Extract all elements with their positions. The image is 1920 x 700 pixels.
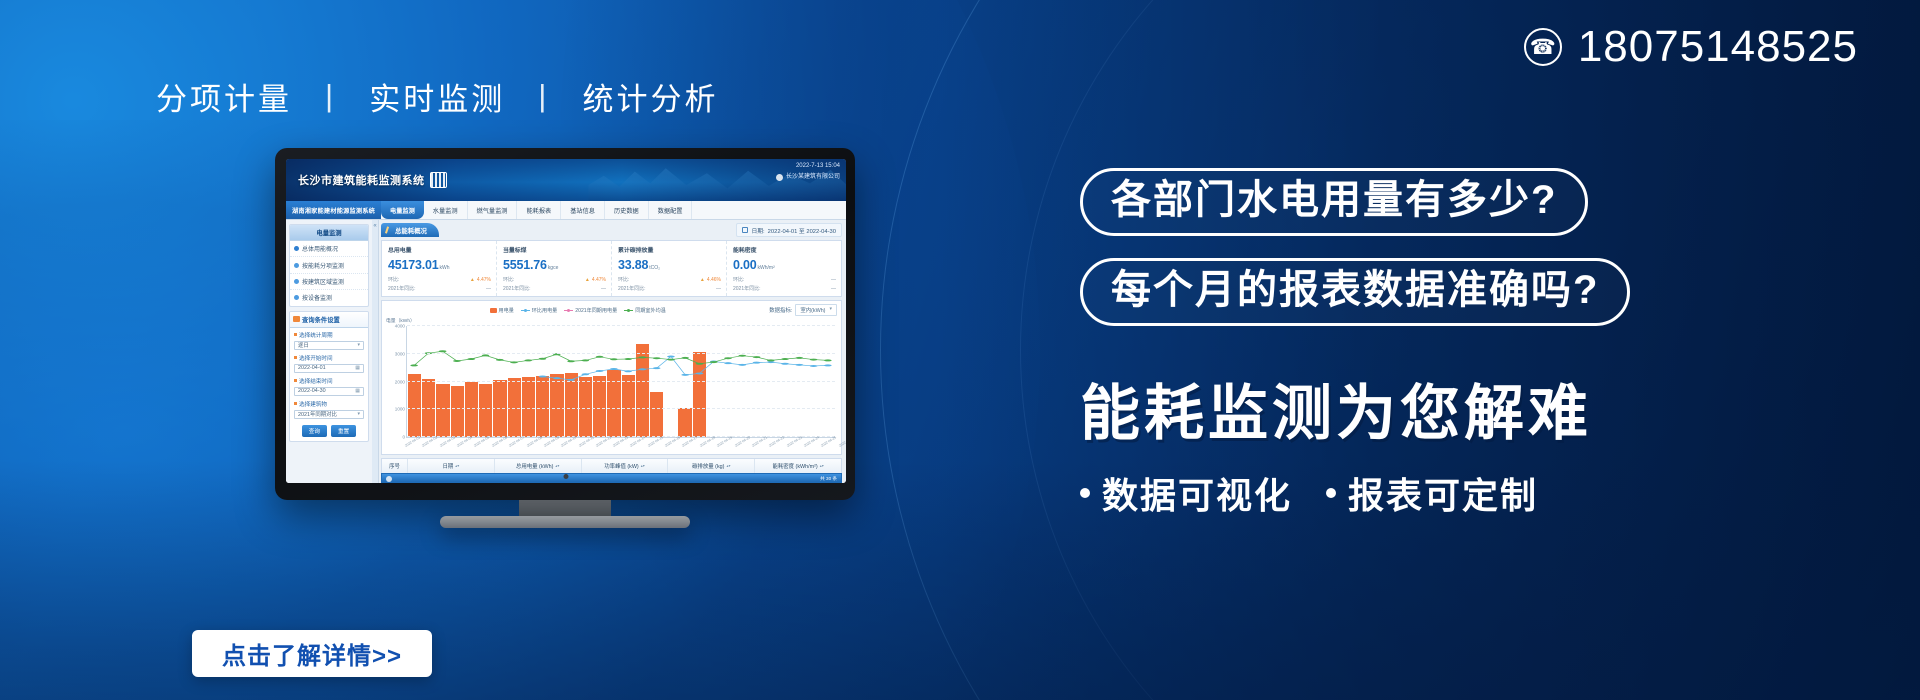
chart-y-tick: 0 — [402, 435, 405, 440]
app-header: 长沙市建筑能耗监测系统 2022-7-13 15:04 长沙某建筑有限公司 — [286, 159, 846, 201]
energy-chart-panel: 用电量环比用电量2021年同期用电量同期室外均温 数据指标: 室内(kWh) ▾ — [381, 300, 842, 455]
chart-point[interactable] — [810, 365, 818, 367]
chart-point[interactable] — [824, 364, 832, 366]
table-column-label: 功率峰值 (kW) — [604, 462, 638, 470]
legend-label: 用电量 — [499, 307, 514, 314]
chart-point[interactable] — [596, 370, 604, 372]
cta-button-label: 点击了解详情>> — [222, 636, 402, 671]
chart-point[interactable] — [767, 359, 775, 361]
app-logo-icon — [430, 172, 447, 188]
legend-label: 同期室外均温 — [635, 307, 666, 314]
kpi-change-value: 4.47% — [477, 277, 491, 283]
app-user[interactable]: 长沙某建筑有限公司 — [776, 173, 840, 182]
legend-label: 2021年同期用电量 — [575, 307, 617, 314]
table-column-header[interactable]: 日期▴▾ — [408, 459, 495, 473]
contact-phone[interactable]: ☎ 18075148525 — [1524, 22, 1858, 72]
feature-bullet-2: 报表可定制 — [1326, 467, 1538, 519]
app-main: 总能耗概况 日期: 2022-04-01 至 2022-04-30 — [379, 220, 846, 483]
field-period-value: 逐日 — [298, 341, 309, 349]
arrow-up-icon: ▲ — [470, 277, 475, 283]
phone-icon: ☎ — [1524, 28, 1562, 66]
arrow-up-icon: ▲ — [585, 277, 590, 283]
field-period-select[interactable]: 逐日 ▾ — [294, 341, 364, 350]
kpi-unit: kWh/m² — [758, 265, 775, 271]
table-column-label: 能耗密度 (kWh/m²) — [772, 462, 817, 470]
table-column-label: 日期 — [442, 462, 453, 470]
field-building-select[interactable]: 2021年同期对比 ▾ — [294, 410, 364, 419]
kpi-value-row: 33.88tCO₂ — [618, 256, 721, 274]
chart-point[interactable] — [610, 368, 618, 370]
nav-item-water[interactable]: 水量监测 — [424, 201, 468, 219]
sidebar-item-by-device[interactable]: 按设备监测 — [290, 290, 368, 305]
kpi-value-row: 45173.01kWh — [388, 256, 491, 274]
chart-point[interactable] — [510, 361, 518, 363]
chart-point[interactable] — [681, 374, 689, 376]
monitor-bezel: 长沙市建筑能耗监测系统 2022-7-13 15:04 长沙某建筑有限公司 — [275, 148, 855, 500]
field-end-date-input[interactable]: 2022-04-30 ▦ — [294, 387, 364, 396]
table-column-header[interactable]: 序号 — [382, 459, 408, 473]
tagline-part-1: 分项计量 — [156, 82, 292, 117]
chevron-down-icon: ▾ — [357, 411, 360, 417]
feature-bullet-1: 数据可视化 — [1080, 467, 1292, 519]
chart-point[interactable] — [610, 358, 618, 360]
chart-legend: 用电量环比用电量2021年同期用电量同期室外均温 — [386, 307, 769, 314]
legend-item-3[interactable]: 同期室外均温 — [624, 307, 666, 314]
kpi-yoy-value: — — [716, 286, 721, 292]
field-end-date: 选择结束时间 2022-04-30 ▦ — [290, 374, 368, 397]
date-range-label: 日期: — [751, 226, 764, 235]
chart-metric-label: 数据指标: — [769, 306, 792, 314]
chart-point[interactable] — [667, 359, 675, 361]
feature-bullets: 数据可视化 报表可定制 — [1080, 467, 1780, 519]
kpi-yoy-row: 2021年同比: — — [503, 285, 606, 292]
field-building-value: 2021年同期对比 — [298, 410, 337, 418]
cta-button[interactable]: 点击了解详情>> — [192, 630, 432, 677]
calendar-icon — [742, 227, 748, 233]
legend-item-2[interactable]: 2021年同期用电量 — [564, 307, 617, 314]
reset-button[interactable]: 重置 — [331, 425, 356, 437]
chart-point[interactable] — [824, 359, 832, 361]
chart-point[interactable] — [596, 356, 604, 358]
kpi-value-row: 0.00kWh/m² — [733, 256, 836, 274]
kpi-compare-label: 环比: — [733, 276, 744, 283]
chart-point[interactable] — [696, 372, 704, 374]
chart-point[interactable] — [539, 376, 547, 378]
nav-item-history[interactable]: 历史数据 — [605, 201, 649, 219]
bullet-icon — [294, 263, 299, 268]
chart-point[interactable] — [624, 370, 632, 372]
table-column-header[interactable]: 能耗密度 (kWh/m²)▴▾ — [755, 459, 841, 473]
bullet-icon — [294, 279, 299, 284]
tagline-part-3: 统计分析 — [583, 82, 719, 117]
kpi-compare-row: 环比: ▲4.47% — [503, 276, 606, 283]
app-header-meta: 2022-7-13 15:04 长沙某建筑有限公司 — [776, 162, 840, 182]
chart-point[interactable] — [696, 363, 704, 365]
chart-point[interactable] — [496, 359, 504, 361]
chart-point[interactable] — [581, 359, 589, 361]
legend-item-0[interactable]: 用电量 — [490, 307, 514, 314]
monitor-mockup: 长沙市建筑能耗监测系统 2022-7-13 15:04 长沙某建筑有限公司 — [275, 148, 855, 500]
bullet-icon — [1080, 488, 1090, 498]
panel-tab-overview[interactable]: 总能耗概况 — [381, 223, 439, 237]
kpi-change-value: 4.46% — [707, 277, 721, 283]
nav-brand-tab[interactable]: 湖南湘家能建材能源监测系统 — [286, 201, 381, 219]
app-user-name: 长沙某建筑有限公司 — [786, 173, 840, 182]
chart-point[interactable] — [724, 362, 732, 364]
kpi-compare-row: 环比: ▲4.46% — [618, 276, 721, 283]
chart-point[interactable] — [667, 356, 675, 358]
chart-point[interactable] — [581, 373, 589, 375]
chart-point[interactable] — [639, 368, 647, 370]
kpi-unit: kWh — [440, 265, 450, 271]
kpi-yoy-label: 2021年同比: — [733, 285, 761, 292]
kpi-change: ▲4.47% — [470, 277, 491, 283]
legend-swatch — [490, 308, 497, 313]
query-button[interactable]: 查询 — [302, 425, 327, 437]
chart-metric-box[interactable]: 室内(kWh) ▾ — [795, 304, 837, 316]
chart-point[interactable] — [795, 357, 803, 359]
chart-gridline: 2000 — [407, 381, 835, 382]
kpi-name: 能耗密度 — [733, 245, 836, 254]
chart-point[interactable] — [753, 356, 761, 358]
chart-point[interactable] — [539, 358, 547, 360]
kpi-yoy-row: 2021年同比: — — [618, 285, 721, 292]
date-range-value: 2022-04-01 至 2022-04-30 — [768, 226, 836, 235]
legend-swatch — [564, 310, 573, 311]
kpi-yoy-row: 2021年同比: — — [733, 285, 836, 292]
legend-swatch — [521, 310, 530, 311]
legend-swatch — [624, 310, 633, 311]
app-nav[interactable]: 湖南湘家能建材能源监测系统 电量监测 水量监测 燃气量监测 能耗报表 基站信息 … — [286, 201, 846, 220]
question-pill-2: 每个月的报表数据准确吗? — [1080, 258, 1630, 326]
sidebar-menu-card: 电量监测 总体用能概况 按能耗分项监测 — [289, 224, 369, 307]
chart-point[interactable] — [781, 358, 789, 360]
table-footer-bar: 共 30 条 — [381, 473, 842, 483]
kpi-value: 33.88 — [618, 258, 648, 272]
kpi-change: ▲4.47% — [585, 277, 606, 283]
table-column-header[interactable]: 总用电量 (kWh)▴▾ — [495, 459, 582, 473]
tagline-separator-2: 丨 — [517, 82, 571, 117]
chart-lines — [407, 326, 835, 437]
sidebar-item-label: 按设备监测 — [302, 293, 332, 302]
chart-y-tick: 1000 — [395, 407, 405, 412]
feature-bullet-2-text: 报表可定制 — [1348, 467, 1538, 519]
table-column-header[interactable]: 碳排放量 (kg)▴▾ — [668, 459, 755, 473]
sort-icon[interactable]: ▴▾ — [820, 464, 824, 468]
sidebar-item-overview[interactable]: 总体用能概况 — [290, 241, 368, 257]
table-header-row: 序号日期▴▾总用电量 (kWh)▴▾功率峰值 (kW)▴▾碳排放量 (kg)▴▾… — [381, 458, 842, 473]
kpi-yoy-label: 2021年同比: — [503, 285, 531, 292]
chart-x-label: 2022-04-26 — [838, 435, 846, 454]
chart-point[interactable] — [453, 360, 461, 362]
kpi-card-standard-coal: 当量标煤 5551.76kgce 环比: ▲4.47% — [497, 241, 612, 296]
chart-point[interactable] — [639, 356, 647, 358]
nav-item-config[interactable]: 数据配置 — [649, 201, 693, 219]
monitor-power-led — [564, 474, 569, 479]
monitor-screen: 长沙市建筑能耗监测系统 2022-7-13 15:04 长沙某建筑有限公司 — [286, 159, 846, 483]
field-start-date: 选择开始时间 2022-04-01 ▦ — [290, 351, 368, 374]
question-pill-2-text: 每个月的报表数据准确吗? — [1111, 270, 1599, 310]
kpi-unit: tCO₂ — [649, 265, 660, 271]
chart-y-tick: 2000 — [395, 379, 405, 384]
kpi-name: 累计碳排放量 — [618, 245, 721, 254]
field-end-date-value: 2022-04-30 — [298, 388, 326, 394]
chart-point[interactable] — [738, 355, 746, 357]
sort-icon[interactable]: ▴▾ — [555, 464, 559, 468]
sidebar-query-card: 查询条件设置 选择统计周期 逐日 ▾ 选择开始时间 — [289, 311, 369, 442]
sidebar-collapse-toggle[interactable]: « — [372, 220, 379, 483]
kpi-yoy-value: — — [831, 286, 836, 292]
kpi-yoy-label: 2021年同比: — [618, 285, 646, 292]
kpi-card-carbon: 累计碳排放量 33.88tCO₂ 环比: ▲4.46% — [612, 241, 727, 296]
table-column-header[interactable]: 功率峰值 (kW)▴▾ — [582, 459, 669, 473]
panel-title-bar: 总能耗概况 日期: 2022-04-01 至 2022-04-30 — [381, 223, 842, 237]
feature-bullet-1-text: 数据可视化 — [1102, 467, 1292, 519]
nav-item-station-info[interactable]: 基站信息 — [561, 201, 605, 219]
chart-point[interactable] — [553, 377, 561, 379]
field-period-label: 选择统计周期 — [294, 331, 364, 339]
chart-area: 电量（kWh） 01000200030004000 2022-04-012022… — [386, 318, 837, 451]
right-content-column: 各部门水电用量有多少? 每个月的报表数据准确吗? 能耗监测为您解难 数据可视化 … — [1080, 168, 1780, 519]
calendar-icon: ▦ — [355, 365, 360, 371]
date-range-display[interactable]: 日期: 2022-04-01 至 2022-04-30 — [736, 223, 842, 237]
chevron-down-icon: ▾ — [357, 342, 360, 348]
chart-point[interactable] — [524, 359, 532, 361]
table-column-label: 序号 — [389, 462, 400, 470]
question-pill-1-text: 各部门水电用量有多少? — [1111, 180, 1557, 220]
chart-toolbar: 用电量环比用电量2021年同期用电量同期室外均温 数据指标: 室内(kWh) ▾ — [386, 304, 837, 316]
chart-point[interactable] — [567, 360, 575, 362]
sidebar-item-label: 总体用能概况 — [302, 244, 338, 253]
sort-icon[interactable]: ▴▾ — [455, 464, 459, 468]
legend-label: 环比用电量 — [532, 307, 557, 314]
legend-item-1[interactable]: 环比用电量 — [521, 307, 557, 314]
kpi-yoy-value: — — [601, 286, 606, 292]
app-body: 电量监测 总体用能概况 按能耗分项监测 — [286, 220, 846, 483]
table-column-label: 碳排放量 (kg) — [692, 462, 724, 470]
kpi-value: 5551.76 — [503, 258, 547, 272]
chart-plot: 01000200030004000 — [406, 326, 835, 438]
question-pill-1: 各部门水电用量有多少? — [1080, 168, 1588, 236]
chart-metric-select[interactable]: 数据指标: 室内(kWh) ▾ — [769, 304, 837, 316]
chart-point[interactable] — [467, 358, 475, 360]
chart-point[interactable] — [753, 362, 761, 364]
field-building-label: 选择建筑物 — [294, 400, 364, 408]
kpi-change: ▲4.46% — [700, 277, 721, 283]
field-end-date-label: 选择结束时间 — [294, 377, 364, 385]
chevron-down-icon: ▾ — [829, 306, 832, 314]
arrow-up-icon: ▲ — [700, 277, 705, 283]
calendar-icon: ▦ — [355, 388, 360, 394]
app-sidebar: 电量监测 总体用能概况 按能耗分项监测 — [286, 220, 372, 483]
field-start-date-input[interactable]: 2022-04-01 ▦ — [294, 364, 364, 373]
field-start-date-value: 2022-04-01 — [298, 365, 326, 371]
kpi-change-value: 4.47% — [592, 277, 606, 283]
table-page-info: 共 30 条 — [820, 476, 837, 482]
chart-gridline: 4000 — [407, 325, 835, 326]
chart-point[interactable] — [810, 359, 818, 361]
monitor-stand-base — [440, 516, 690, 528]
tagline: 分项计量 丨 实时监测 丨 统计分析 — [156, 74, 719, 119]
chart-point[interactable] — [738, 364, 746, 366]
nav-item-electricity[interactable]: 电量监测 — [381, 201, 424, 219]
kpi-compare-label: 环比: — [388, 276, 399, 283]
bullet-icon — [1326, 488, 1336, 498]
kpi-compare-row: 环比: — — [733, 276, 836, 283]
kpi-value-row: 5551.76kgce — [503, 256, 606, 274]
field-start-date-label: 选择开始时间 — [294, 354, 364, 362]
kpi-yoy-row: 2021年同比: — — [388, 285, 491, 292]
chart-point[interactable] — [681, 357, 689, 359]
chart-point[interactable] — [410, 364, 418, 366]
kpi-card-total-electricity: 总用电量 45173.01kWh 环比: ▲4.47% — [382, 241, 497, 296]
sidebar-menu-title: 电量监测 — [290, 225, 368, 241]
field-period: 选择统计周期 逐日 ▾ — [290, 328, 368, 351]
chart-point[interactable] — [653, 367, 661, 369]
kpi-compare-label: 环比: — [618, 276, 629, 283]
kpi-compare-row: 环比: ▲4.47% — [388, 276, 491, 283]
chart-gridline: 1000 — [407, 408, 835, 409]
sort-icon[interactable]: ▴▾ — [641, 464, 645, 468]
sidebar-item-by-zone[interactable]: 按建筑区域监测 — [290, 274, 368, 290]
sidebar-item-label: 按能耗分项监测 — [302, 261, 344, 270]
user-avatar-icon — [776, 174, 783, 181]
kpi-compare-label: 环比: — [503, 276, 514, 283]
chart-gridline: 3000 — [407, 353, 835, 354]
app-title: 长沙市建筑能耗监测系统 — [298, 172, 425, 188]
banner-root: ☎ 18075148525 分项计量 丨 实时监测 丨 统计分析 长沙市建筑能耗… — [0, 0, 1920, 700]
chart-point[interactable] — [781, 363, 789, 365]
kpi-yoy-label: 2021年同比: — [388, 285, 416, 292]
sidebar-item-by-category[interactable]: 按能耗分项监测 — [290, 257, 368, 273]
nav-item-gas[interactable]: 燃气量监测 — [468, 201, 518, 219]
kpi-yoy-value: — — [486, 286, 491, 292]
app-timestamp: 2022-7-13 15:04 — [776, 162, 840, 171]
kpi-value: 45173.01 — [388, 258, 439, 272]
kpi-value: 0.00 — [733, 258, 757, 272]
tagline-part-2: 实时监测 — [369, 82, 505, 117]
kpi-unit: kgce — [548, 265, 559, 271]
chart-point[interactable] — [724, 357, 732, 359]
chart-point[interactable] — [482, 354, 490, 356]
chart-x-axis-labels: 2022-04-012022-04-022022-04-032022-04-04… — [406, 439, 835, 451]
chart-metric-value: 室内(kWh) — [800, 306, 825, 314]
chart-point[interactable] — [795, 364, 803, 366]
chart-point[interactable] — [653, 357, 661, 359]
sort-icon[interactable]: ▴▾ — [726, 464, 730, 468]
chart-y-tick: 4000 — [395, 324, 405, 329]
table-column-label: 总用电量 (kWh) — [516, 462, 553, 470]
info-icon — [386, 476, 392, 482]
phone-number: 18075148525 — [1578, 22, 1858, 72]
kpi-name: 总用电量 — [388, 245, 491, 254]
kpi-card-energy-density: 能耗密度 0.00kWh/m² 环比: — 202 — [727, 241, 841, 296]
chart-point[interactable] — [624, 358, 632, 360]
main-headline: 能耗监测为您解难 — [1080, 382, 1780, 445]
kpi-cards: 总用电量 45173.01kWh 环比: ▲4.47% — [381, 240, 842, 297]
sidebar-query-title: 查询条件设置 — [290, 312, 368, 328]
sidebar-item-label: 按建筑区域监测 — [302, 277, 344, 286]
chart-y-tick: 3000 — [395, 351, 405, 356]
bullet-icon — [294, 295, 299, 300]
bullet-icon — [294, 246, 299, 251]
tagline-separator-1: 丨 — [304, 82, 358, 117]
kpi-name: 当量标煤 — [503, 245, 606, 254]
field-building: 选择建筑物 2021年同期对比 ▾ — [290, 397, 368, 420]
nav-item-reports[interactable]: 能耗报表 — [517, 201, 561, 219]
sidebar-buttons: 查询 重置 — [290, 420, 368, 441]
chart-point[interactable] — [710, 361, 718, 363]
data-table: 序号日期▴▾总用电量 (kWh)▴▾功率峰值 (kW)▴▾碳排放量 (kg)▴▾… — [381, 458, 842, 483]
kpi-change-value: — — [831, 277, 836, 283]
energy-app: 长沙市建筑能耗监测系统 2022-7-13 15:04 长沙某建筑有限公司 — [286, 159, 846, 483]
